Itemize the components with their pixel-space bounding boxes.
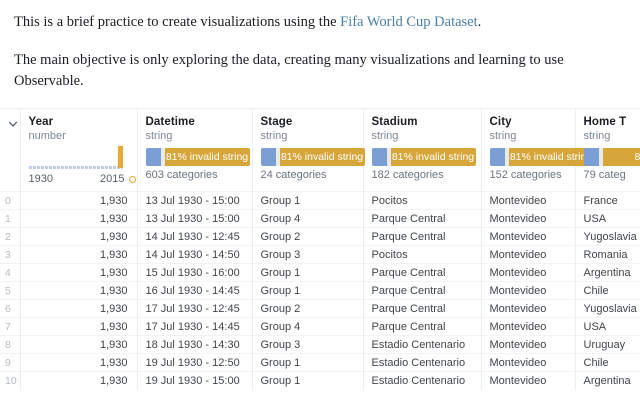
- cell-datetime: 15 Jul 1930 - 16:00: [137, 264, 252, 282]
- cell-home-team: Chile: [575, 282, 640, 300]
- table-row[interactable]: 51,93016 Jul 1930 - 14:45Group 1Parque C…: [0, 282, 640, 300]
- fifa-data-table: Year number 1930 2015 Datetime string: [0, 109, 640, 390]
- cell-stadium: Pocitos: [363, 192, 481, 210]
- column-type: string: [490, 130, 575, 142]
- column-name: Year: [29, 116, 137, 128]
- cell-city: Montevideo: [481, 228, 575, 246]
- histogram-max-label: 2015: [100, 173, 124, 185]
- row-index: 10: [0, 372, 20, 390]
- gap-segment: [505, 148, 509, 166]
- cell-year: 1,930: [20, 318, 137, 336]
- cell-stage: Group 1: [252, 192, 363, 210]
- table-row[interactable]: 31,93014 Jul 1930 - 14:50Group 3PocitosM…: [0, 246, 640, 264]
- expand-all-header-cell[interactable]: [0, 109, 20, 192]
- valid-segment: [146, 148, 161, 166]
- column-header-datetime[interactable]: Datetime string 81% invalid string 603 c…: [137, 109, 252, 192]
- cell-datetime: 13 Jul 1930 - 15:00: [137, 210, 252, 228]
- cell-stage: Group 2: [252, 300, 363, 318]
- intro-paragraph-1: This is a brief practice to create visua…: [14, 0, 626, 33]
- cell-home-team: Yugoslavia: [575, 228, 640, 246]
- cell-home-team: Argentina: [575, 372, 640, 390]
- cell-city: Montevideo: [481, 354, 575, 372]
- gap-segment: [387, 148, 391, 166]
- cell-home-team: Uruguay: [575, 336, 640, 354]
- row-index: 8: [0, 336, 20, 354]
- cell-stadium: Parque Central: [363, 228, 481, 246]
- cell-city: Montevideo: [481, 210, 575, 228]
- gap-segment: [161, 148, 165, 166]
- row-index: 4: [0, 264, 20, 282]
- intro-paragraph-1-before: This is a brief practice to create visua…: [14, 14, 340, 30]
- column-type: string: [372, 130, 481, 142]
- gap-segment: [276, 148, 280, 166]
- invalid-segment-label: 81% invalid string: [280, 148, 365, 166]
- cell-city: Montevideo: [481, 246, 575, 264]
- year-histogram: [29, 146, 137, 172]
- invalid-ratio-bar: 81%: [584, 148, 640, 166]
- cell-stage: Group 1: [252, 282, 363, 300]
- invalid-ratio-bar: 81% invalid string: [146, 148, 250, 166]
- column-name: City: [490, 116, 575, 128]
- cell-year: 1,930: [20, 336, 137, 354]
- histogram-sparkline: [29, 166, 123, 169]
- cell-city: Montevideo: [481, 264, 575, 282]
- cell-year: 1,930: [20, 246, 137, 264]
- intro-paragraph-1-after: .: [478, 14, 482, 30]
- row-index: 5: [0, 282, 20, 300]
- intro-paragraph-2: The main objective is only exploring the…: [14, 33, 626, 92]
- column-name: Stage: [261, 116, 363, 128]
- column-type: string: [584, 130, 640, 142]
- cell-stadium: Parque Central: [363, 210, 481, 228]
- cell-stadium: Estadio Centenario: [363, 354, 481, 372]
- cell-year: 1,930: [20, 228, 137, 246]
- histogram-labels: 1930 2015: [29, 173, 137, 186]
- valid-segment: [490, 148, 505, 166]
- invalid-segment-label: 81% invalid string: [391, 148, 476, 166]
- column-name: Stadium: [372, 116, 481, 128]
- cell-city: Montevideo: [481, 300, 575, 318]
- category-count: 79 categ: [584, 169, 640, 181]
- column-type: string: [261, 130, 363, 142]
- column-type: number: [29, 130, 137, 142]
- cell-stage: Group 2: [252, 228, 363, 246]
- cell-stage: Group 3: [252, 246, 363, 264]
- invalid-ratio-bar: 81% invalid string: [490, 148, 594, 166]
- table-row[interactable]: 11,93013 Jul 1930 - 15:00Group 4Parque C…: [0, 210, 640, 228]
- invalid-segment-label: 81% invalid string: [165, 148, 250, 166]
- cell-stadium: Pocitos: [363, 246, 481, 264]
- row-index: 2: [0, 228, 20, 246]
- cell-year: 1,930: [20, 210, 137, 228]
- column-header-year[interactable]: Year number 1930 2015: [20, 109, 137, 192]
- cell-city: Montevideo: [481, 336, 575, 354]
- column-name: Datetime: [146, 116, 252, 128]
- cell-home-team: Romania: [575, 246, 640, 264]
- chevron-down-icon: [7, 118, 19, 130]
- table-row[interactable]: 71,93017 Jul 1930 - 14:45Group 4Parque C…: [0, 318, 640, 336]
- cell-city: Montevideo: [481, 282, 575, 300]
- table-row[interactable]: 01,93013 Jul 1930 - 15:00Group 1PocitosM…: [0, 192, 640, 210]
- cell-year: 1,930: [20, 354, 137, 372]
- cell-stadium: Parque Central: [363, 264, 481, 282]
- histogram-min-label: 1930: [29, 173, 53, 185]
- cell-year: 1,930: [20, 282, 137, 300]
- table-row[interactable]: 81,93018 Jul 1930 - 14:30Group 3Estadio …: [0, 336, 640, 354]
- cell-datetime: 17 Jul 1930 - 12:45: [137, 300, 252, 318]
- invalid-segment-label: 81%: [603, 148, 640, 166]
- invalid-segment-label: 81% invalid string: [509, 148, 594, 166]
- cell-stage: Group 4: [252, 318, 363, 336]
- category-count: 182 categories: [372, 169, 481, 181]
- cell-city: Montevideo: [481, 318, 575, 336]
- cell-stage: Group 1: [252, 264, 363, 282]
- row-index: 7: [0, 318, 20, 336]
- row-index: 1: [0, 210, 20, 228]
- cell-stage: Group 4: [252, 210, 363, 228]
- cell-year: 1,930: [20, 372, 137, 390]
- cell-stage: Group 1: [252, 372, 363, 390]
- column-header-stage[interactable]: Stage string 81% invalid string 24 categ…: [252, 109, 363, 192]
- cell-datetime: 17 Jul 1930 - 14:45: [137, 318, 252, 336]
- cell-datetime: 13 Jul 1930 - 15:00: [137, 192, 252, 210]
- cell-stadium: Parque Central: [363, 300, 481, 318]
- cell-datetime: 16 Jul 1930 - 14:45: [137, 282, 252, 300]
- histogram-peak-bar: [118, 146, 123, 168]
- missing-value-icon: [129, 176, 136, 183]
- category-count: 24 categories: [261, 169, 363, 181]
- invalid-ratio-bar: 81% invalid string: [372, 148, 476, 166]
- cell-home-team: Yugoslavia: [575, 300, 640, 318]
- cell-stadium: Estadio Centenario: [363, 372, 481, 390]
- column-header-city[interactable]: City string 81% invalid string 152 categ…: [481, 109, 575, 192]
- row-index: 9: [0, 354, 20, 372]
- cell-datetime: 14 Jul 1930 - 14:50: [137, 246, 252, 264]
- table-body: 01,93013 Jul 1930 - 15:00Group 1PocitosM…: [0, 192, 640, 390]
- cell-year: 1,930: [20, 192, 137, 210]
- table-row[interactable]: 21,93014 Jul 1930 - 12:45Group 2Parque C…: [0, 228, 640, 246]
- cell-datetime: 19 Jul 1930 - 15:00: [137, 372, 252, 390]
- intro-prose: This is a brief practice to create visua…: [0, 0, 640, 92]
- cell-home-team: Argentina: [575, 264, 640, 282]
- cell-city: Montevideo: [481, 372, 575, 390]
- row-index: 3: [0, 246, 20, 264]
- valid-segment: [584, 148, 599, 166]
- cell-city: Montevideo: [481, 192, 575, 210]
- cell-stadium: Parque Central: [363, 318, 481, 336]
- row-index: 0: [0, 192, 20, 210]
- table-row[interactable]: 61,93017 Jul 1930 - 12:45Group 2Parque C…: [0, 300, 640, 318]
- table-row[interactable]: 101,93019 Jul 1930 - 15:00Group 1Estadio…: [0, 372, 640, 390]
- invalid-ratio-bar: 81% invalid string: [261, 148, 365, 166]
- table-header: Year number 1930 2015 Datetime string: [0, 109, 640, 192]
- cell-year: 1,930: [20, 264, 137, 282]
- cell-datetime: 14 Jul 1930 - 12:45: [137, 228, 252, 246]
- cell-datetime: 19 Jul 1930 - 12:50: [137, 354, 252, 372]
- cell-home-team: Chile: [575, 354, 640, 372]
- cell-stage: Group 1: [252, 354, 363, 372]
- cell-stadium: Estadio Centenario: [363, 336, 481, 354]
- cell-home-team: France: [575, 192, 640, 210]
- valid-segment: [261, 148, 276, 166]
- column-header-home-team[interactable]: Home T string 81% 79 categ: [575, 109, 640, 192]
- cell-home-team: USA: [575, 210, 640, 228]
- cell-stadium: Parque Central: [363, 282, 481, 300]
- cell-home-team: USA: [575, 318, 640, 336]
- row-index: 6: [0, 300, 20, 318]
- table-row[interactable]: 41,93015 Jul 1930 - 16:00Group 1Parque C…: [0, 264, 640, 282]
- column-type: string: [146, 130, 252, 142]
- cell-year: 1,930: [20, 300, 137, 318]
- category-count: 152 categories: [490, 169, 575, 181]
- category-count: 603 categories: [146, 169, 252, 181]
- data-table-container[interactable]: Year number 1930 2015 Datetime string: [0, 108, 640, 390]
- column-header-stadium[interactable]: Stadium string 81% invalid string 182 ca…: [363, 109, 481, 192]
- fifa-dataset-link[interactable]: Fifa World Cup Dataset: [340, 14, 478, 30]
- table-row[interactable]: 91,93019 Jul 1930 - 12:50Group 1Estadio …: [0, 354, 640, 372]
- cell-stage: Group 3: [252, 336, 363, 354]
- cell-datetime: 18 Jul 1930 - 14:30: [137, 336, 252, 354]
- gap-segment: [599, 148, 603, 166]
- valid-segment: [372, 148, 387, 166]
- column-name: Home T: [584, 116, 640, 128]
